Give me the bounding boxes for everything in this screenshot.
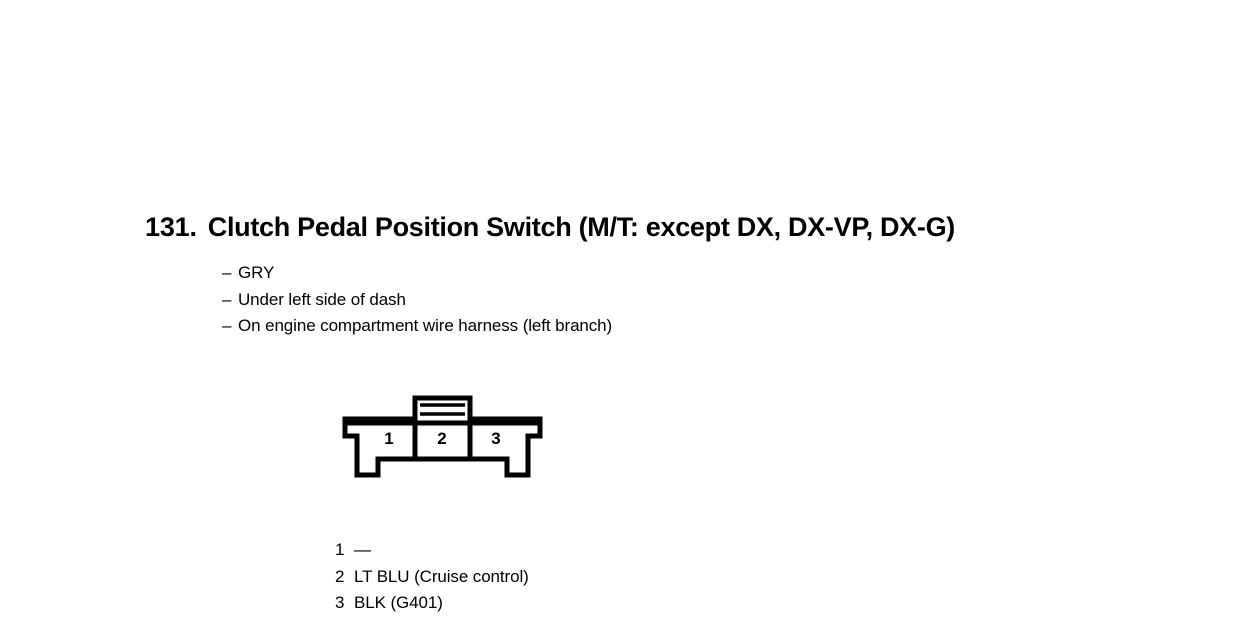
cavity-number-3: 3 — [491, 429, 500, 448]
terminal-wire-label: LT BLU (Cruise control) — [354, 564, 529, 591]
terminal-row: 1— — [335, 537, 529, 564]
entry-title: Clutch Pedal Position Switch (M/T: excep… — [208, 212, 955, 243]
dash-bullet-icon: – — [222, 260, 238, 287]
terminal-wire-label: — — [354, 537, 371, 564]
dash-bullet-icon: – — [222, 287, 238, 314]
connector-diagram: 1 2 3 — [344, 390, 550, 490]
attribute-item: –Under left side of dash — [222, 287, 612, 314]
terminal-legend: 1— 2LT BLU (Cruise control) 3BLK (G401) — [335, 537, 529, 617]
attribute-item: –On engine compartment wire harness (lef… — [222, 313, 612, 340]
terminal-row: 2LT BLU (Cruise control) — [335, 564, 529, 591]
attribute-list: –GRY –Under left side of dash –On engine… — [222, 260, 612, 340]
connector-svg: 1 2 3 — [344, 390, 550, 490]
terminal-wire-label: BLK (G401) — [354, 590, 443, 617]
cavity-number-1: 1 — [384, 429, 393, 448]
terminal-pin-number: 1 — [335, 537, 354, 564]
attribute-text: Under left side of dash — [238, 290, 406, 309]
entry-heading: 131. Clutch Pedal Position Switch (M/T: … — [145, 212, 955, 243]
entry-number: 131. — [145, 212, 197, 243]
attribute-item: –GRY — [222, 260, 612, 287]
dash-bullet-icon: – — [222, 313, 238, 340]
attribute-text: On engine compartment wire harness (left… — [238, 316, 612, 335]
terminal-pin-number: 3 — [335, 590, 354, 617]
terminal-pin-number: 2 — [335, 564, 354, 591]
cavity-number-2: 2 — [437, 429, 446, 448]
terminal-row: 3BLK (G401) — [335, 590, 529, 617]
attribute-text: GRY — [238, 263, 274, 282]
